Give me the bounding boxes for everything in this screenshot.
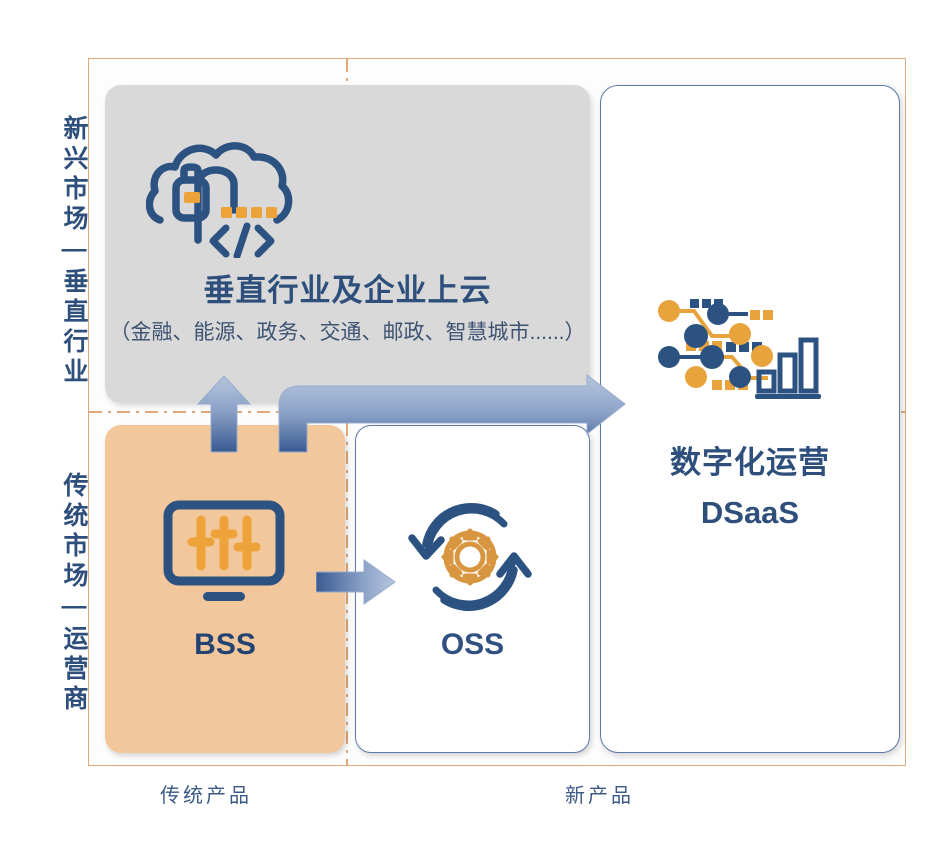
oss-label: OSS <box>355 628 590 662</box>
vertical-industry-title: 垂直行业及企业上云 <box>105 265 590 310</box>
cloud-code-icon <box>146 128 296 258</box>
network-analytics-icon <box>650 278 830 403</box>
vertical-industry-subtitle: （金融、能源、政务、交通、邮政、智慧城市......） <box>105 316 590 346</box>
bss-label: BSS <box>105 628 345 662</box>
y-axis-label-top: 新兴市场—垂直行业 <box>34 96 86 406</box>
arrow-bss-to-dsaas <box>277 374 627 454</box>
arrow-bss-to-vertical <box>196 374 252 454</box>
dsaas-subtitle: DSaaS <box>600 495 900 531</box>
diagram-canvas: 新兴市场—垂直行业 传统市场—运营商 传统产品 新产品 <box>0 0 933 846</box>
arrow-bss-to-oss <box>316 558 396 606</box>
panel-dsaas[interactable] <box>600 85 900 753</box>
x-axis-label-left: 传统产品 <box>160 779 252 808</box>
y-axis-label-bottom: 传统市场—运营商 <box>34 438 86 748</box>
refresh-gear-icon <box>408 498 532 616</box>
monitor-sliders-icon <box>163 500 285 606</box>
x-axis-label-right: 新产品 <box>565 779 634 808</box>
dsaas-title: 数字化运营 <box>600 437 900 482</box>
